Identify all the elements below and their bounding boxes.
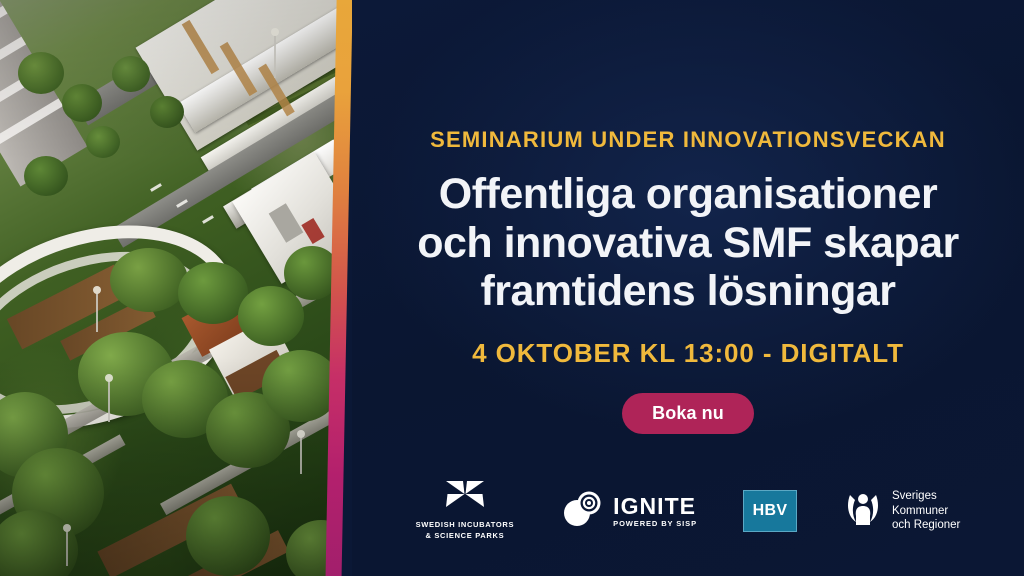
content-panel: SEMINARIUM UNDER INNOVATIONSVECKAN Offen… — [352, 0, 1024, 576]
target-circles-icon — [560, 490, 604, 533]
hbv-name: HBV — [753, 502, 788, 520]
headline-line-3: framtidens lösningar — [417, 267, 958, 316]
logo-sveriges-kommuner-och-regioner[interactable]: Sveriges Kommuner och Regioner — [843, 489, 960, 534]
logo-ignite-text: IGNITE POWERED BY SISP — [613, 495, 697, 528]
promo-banner: SEMINARIUM UNDER INNOVATIONSVECKAN Offen… — [0, 0, 1024, 576]
headline-line-2: och innovativa SMF skapar — [417, 219, 958, 268]
logo-skr-text: Sveriges Kommuner och Regioner — [892, 489, 960, 533]
logo-hbv[interactable]: HBV — [743, 490, 797, 532]
logo-ignite[interactable]: IGNITE POWERED BY SISP — [560, 490, 697, 533]
event-datetime: 4 OKTOBER KL 13:00 - DIGITALT — [472, 338, 904, 369]
photo-vignette — [0, 0, 340, 576]
skr-line-2: Kommuner — [892, 504, 960, 519]
ignite-subtitle: POWERED BY SISP — [613, 520, 697, 528]
skr-line-3: och Regioner — [892, 518, 960, 533]
logo-swedish-incubators-science-parks[interactable]: SWEDISH INCUBATORS & SCIENCE PARKS — [416, 480, 515, 542]
eyebrow-label: SEMINARIUM UNDER INNOVATIONSVECKAN — [430, 128, 946, 152]
page-title: Offentliga organisationer och innovativa… — [417, 170, 958, 316]
logo-sisp-text: SWEDISH INCUBATORS & SCIENCE PARKS — [416, 520, 515, 542]
aerial-city-photo — [0, 0, 340, 576]
headline-line-1: Offentliga organisationer — [417, 170, 958, 219]
sisp-line-1: SWEDISH INCUBATORS — [416, 520, 515, 531]
book-now-button[interactable]: Boka nu — [622, 393, 754, 434]
ignite-name: IGNITE — [613, 495, 697, 518]
butterfly-mark-icon — [445, 480, 485, 513]
sisp-line-2: & SCIENCE PARKS — [416, 531, 515, 542]
human-figure-icon — [843, 489, 883, 534]
partner-logo-row: SWEDISH INCUBATORS & SCIENCE PARKS — [352, 480, 1024, 542]
skr-line-1: Sveriges — [892, 489, 960, 504]
